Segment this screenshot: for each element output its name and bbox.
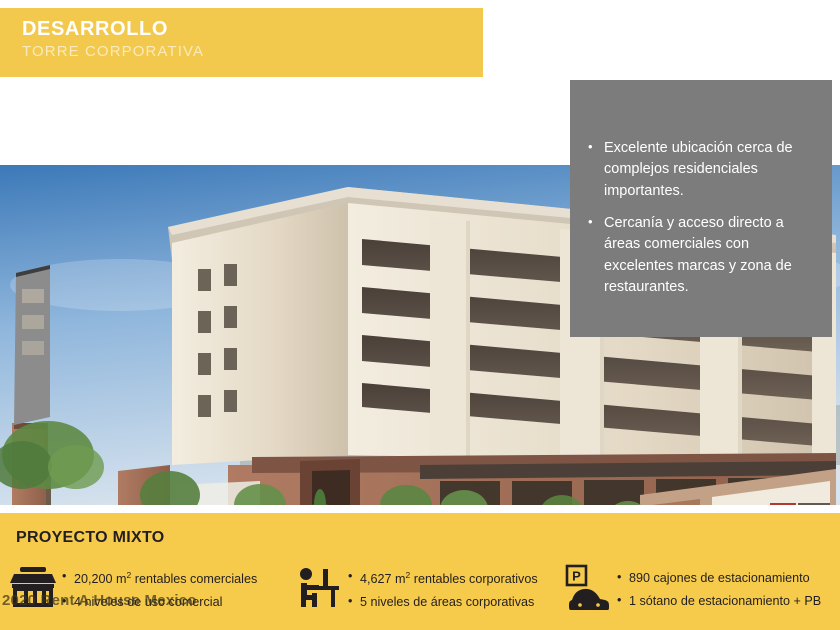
stat-line: 5 niveles de áreas corporativas	[348, 596, 538, 609]
parking-car-icon: P	[563, 561, 613, 613]
stat-text-post: rentables corporativos	[410, 572, 537, 586]
stat-text: 5 niveles de áreas corporativas	[360, 595, 534, 609]
stat-line: 1 sótano de estacionamiento + PB	[617, 595, 821, 608]
slide-canvas: DESARROLLO TORRE CORPORATIVA	[0, 0, 840, 630]
stat-lines: 890 cajones de estacionamiento 1 sótano …	[613, 567, 821, 607]
stat-line: 4,627 m2 rentables corporativos	[348, 571, 538, 586]
stat-line: 20,200 m2 rentables comerciales	[62, 571, 257, 586]
stat-column-parking: P 890 cajones de estacionamiento 1 sótan…	[557, 561, 840, 613]
svg-text:P: P	[572, 569, 581, 584]
stat-text-post: rentables comerciales	[131, 572, 257, 586]
storefront-icon-svg	[10, 565, 56, 609]
stat-text: 4,627 m	[360, 572, 406, 586]
highlights-callout: Excelente ubicación cerca de complejos r…	[570, 80, 832, 337]
stat-column-corporate: 4,627 m2 rentables corporativos 5 nivele…	[292, 561, 557, 613]
footer-panel: PROYECTO MIXTO 20,200 m2 rent	[0, 513, 840, 630]
storefront-icon	[8, 561, 58, 613]
stat-text: 4 niveles de uso comercial	[74, 595, 222, 609]
stat-line: 4 niveles de uso comercial	[62, 596, 257, 609]
footer-stats-columns: 20,200 m2 rentables comerciales 4 nivele…	[0, 561, 840, 613]
highlight-item: Cercanía y acceso directo a áreas comerc…	[588, 213, 812, 298]
stat-lines: 4,627 m2 rentables corporativos 5 nivele…	[344, 566, 538, 608]
stat-text: 890 cajones de estacionamiento	[629, 571, 810, 585]
page-subtitle: TORRE CORPORATIVA	[22, 44, 483, 61]
highlight-item: Excelente ubicación cerca de complejos r…	[588, 138, 812, 202]
desk-worker-icon	[294, 561, 344, 613]
highlights-list: Excelente ubicación cerca de complejos r…	[588, 138, 812, 298]
stat-lines: 20,200 m2 rentables comerciales 4 nivele…	[58, 566, 257, 608]
stat-text: 20,200 m	[74, 572, 127, 586]
footer-title: PROYECTO MIXTO	[16, 529, 165, 547]
stat-column-commercial: 20,200 m2 rentables comerciales 4 nivele…	[0, 561, 292, 613]
page-title: DESARROLLO	[22, 18, 483, 40]
desk-worker-icon-svg	[297, 565, 341, 609]
stat-line: 890 cajones de estacionamiento	[617, 572, 821, 585]
stat-text: 1 sótano de estacionamiento + PB	[629, 594, 821, 608]
header-banner: DESARROLLO TORRE CORPORATIVA	[0, 8, 483, 77]
parking-car-icon-svg: P	[565, 564, 611, 610]
